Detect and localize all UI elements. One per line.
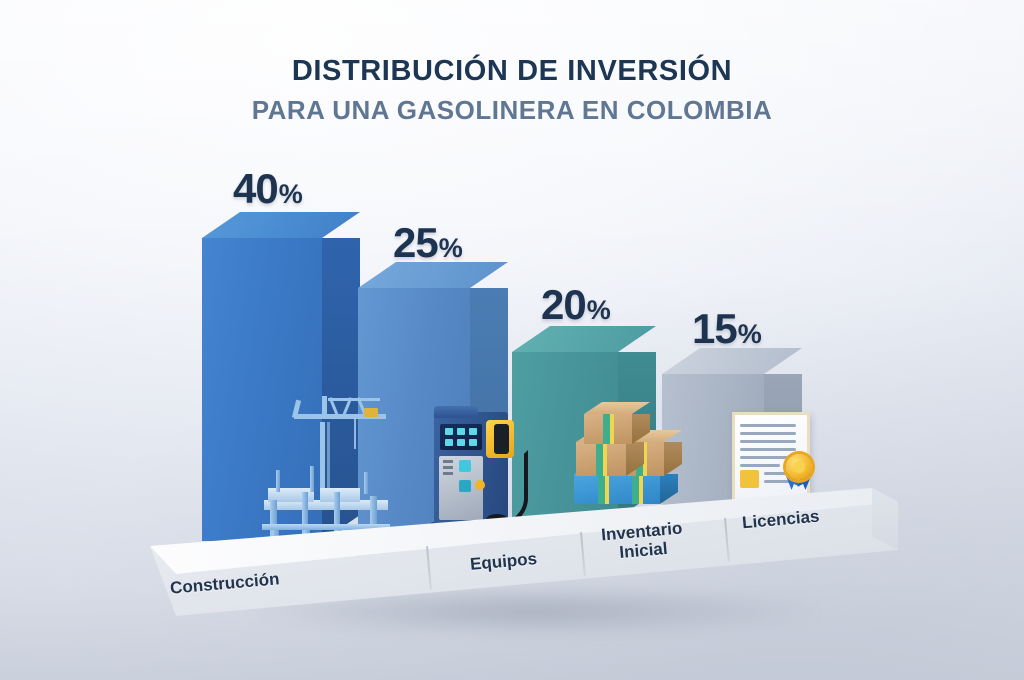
value-number: 40 [233,165,278,212]
bar-top-face [512,326,656,352]
bar-top-face [202,212,360,238]
value-number: 15 [692,305,737,352]
base-plinth: Construcción Equipos Inventario Inicial … [150,488,898,616]
title-block: DISTRIBUCIÓN DE INVERSIÓN PARA UNA GASOL… [0,54,1024,126]
value-number: 25 [393,219,438,266]
value-percent-symbol: % [738,319,762,349]
page-subtitle: PARA UNA GASOLINERA EN COLOMBIA [0,95,1024,126]
value-number: 20 [541,281,586,328]
value-label-construccion: 40% [233,168,302,210]
value-percent-symbol: % [587,295,611,325]
value-percent-symbol: % [439,233,463,263]
value-label-equipos: 25% [393,222,462,264]
value-label-licencias: 15% [692,308,761,350]
infographic-canvas: DISTRIBUCIÓN DE INVERSIÓN PARA UNA GASOL… [0,0,1024,680]
page-title: DISTRIBUCIÓN DE INVERSIÓN [0,54,1024,88]
value-percent-symbol: % [279,179,303,209]
category-label-inventario-inicial: Inventario Inicial [600,519,684,564]
value-label-inventario: 20% [541,284,610,326]
